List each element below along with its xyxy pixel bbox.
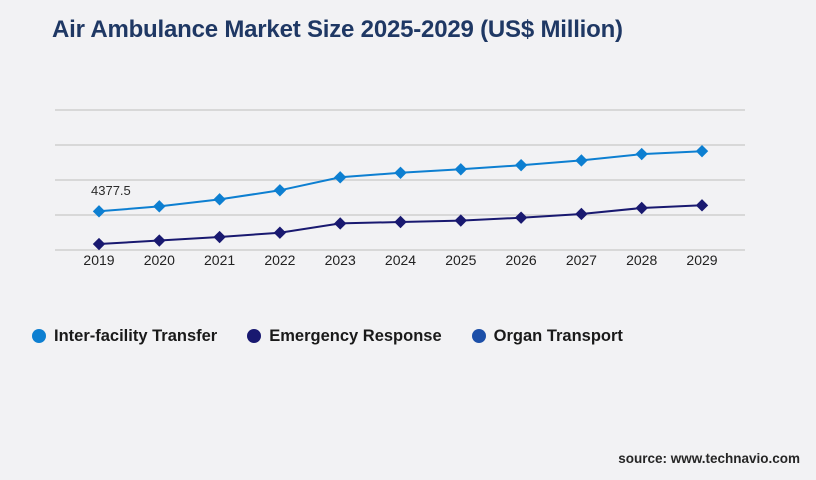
- data-point-marker: [153, 234, 165, 246]
- x-axis-tick-2027: 2027: [566, 252, 597, 268]
- data-point-marker: [394, 167, 406, 179]
- legend-label: Organ Transport: [494, 327, 623, 346]
- legend-item-2[interactable]: Organ Transport: [472, 327, 623, 346]
- data-point-marker: [636, 148, 648, 160]
- legend-marker-icon: [32, 329, 46, 343]
- data-point-marker: [334, 171, 346, 183]
- data-point-marker: [696, 199, 708, 211]
- data-point-marker: [636, 202, 648, 214]
- data-point-marker: [455, 163, 467, 175]
- data-point-marker: [515, 211, 527, 223]
- x-axis-tick-2024: 2024: [385, 252, 416, 268]
- data-point-marker: [515, 159, 527, 171]
- chart-title: Air Ambulance Market Size 2025-2029 (US$…: [52, 16, 623, 44]
- x-axis-tick-2028: 2028: [626, 252, 657, 268]
- x-axis-tick-2029: 2029: [686, 252, 717, 268]
- data-point-marker: [274, 227, 286, 239]
- series-line-0: [99, 151, 702, 211]
- x-axis-tick-labels: 2019202020212022202320242025202620272028…: [55, 252, 745, 276]
- data-label-2019: 4377.5: [91, 183, 131, 198]
- x-axis-tick-2021: 2021: [204, 252, 235, 268]
- x-axis-tick-2026: 2026: [506, 252, 537, 268]
- x-axis-tick-2025: 2025: [445, 252, 476, 268]
- x-axis-tick-2020: 2020: [144, 252, 175, 268]
- plot-area: [55, 100, 745, 260]
- legend-marker-icon: [247, 329, 261, 343]
- source-note: source: www.technavio.com: [618, 451, 800, 466]
- x-axis-tick-2023: 2023: [325, 252, 356, 268]
- data-point-marker: [334, 217, 346, 229]
- legend-item-1[interactable]: Emergency Response: [247, 327, 441, 346]
- data-point-marker: [153, 200, 165, 212]
- data-point-marker: [394, 216, 406, 228]
- data-point-marker: [274, 184, 286, 196]
- data-point-marker: [213, 231, 225, 243]
- data-point-marker: [213, 193, 225, 205]
- legend-item-0[interactable]: Inter-facility Transfer: [32, 327, 217, 346]
- data-point-marker: [575, 208, 587, 220]
- legend-label: Inter-facility Transfer: [54, 327, 217, 346]
- data-point-marker: [455, 214, 467, 226]
- line-chart-svg: [55, 100, 745, 260]
- x-axis-tick-2019: 2019: [83, 252, 114, 268]
- data-point-marker: [93, 238, 105, 250]
- data-point-marker: [575, 154, 587, 166]
- legend-marker-icon: [472, 329, 486, 343]
- legend-label: Emergency Response: [269, 327, 441, 346]
- data-point-marker: [696, 145, 708, 157]
- chart-legend: Inter-facility TransferEmergency Respons…: [32, 322, 653, 350]
- x-axis-tick-2022: 2022: [264, 252, 295, 268]
- chart-container: Air Ambulance Market Size 2025-2029 (US$…: [0, 0, 816, 480]
